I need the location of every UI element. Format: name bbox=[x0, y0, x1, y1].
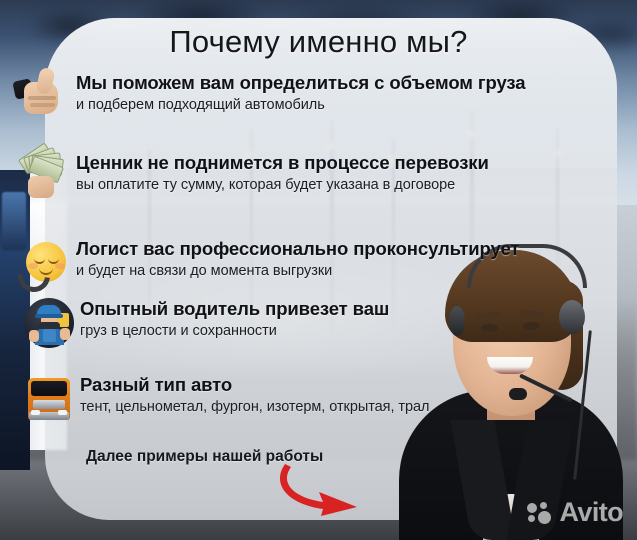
avito-dots-icon bbox=[527, 502, 553, 524]
benefit-subtext: груз в целости и сохранности bbox=[80, 323, 389, 339]
money-in-hand-icon bbox=[14, 146, 68, 200]
page-title: Почему именно мы? bbox=[0, 24, 637, 60]
avito-brand-text: Avito bbox=[560, 499, 624, 526]
benefit-heading: Мы поможем вам определиться с объемом гр… bbox=[76, 72, 525, 94]
relieved-face-phone-icon bbox=[18, 236, 72, 290]
benefit-heading: Логист вас профессионально проконсультир… bbox=[76, 238, 519, 260]
truck-driver-icon bbox=[22, 296, 76, 350]
avito-watermark: Avito bbox=[527, 499, 624, 526]
orange-truck-icon bbox=[22, 372, 76, 426]
benefit-subtext: тент, цельнометал, фургон, изотерм, откр… bbox=[80, 399, 429, 415]
curved-arrow-right-icon bbox=[245, 462, 385, 532]
benefit-heading: Разный тип авто bbox=[80, 374, 429, 396]
benefit-subtext: вы оплатите ту сумму, которая будет указ… bbox=[76, 177, 489, 193]
benefit-heading: Опытный водитель привезет ваш bbox=[80, 298, 389, 320]
benefit-subtext: и будет на связи до момента выгрузки bbox=[76, 263, 519, 279]
content-layer: Почему именно мы? Мы поможем вам определ… bbox=[0, 0, 637, 540]
benefit-heading: Ценник не поднимется в процессе перевозк… bbox=[76, 152, 489, 174]
thumbs-up-icon bbox=[14, 66, 68, 120]
benefit-subtext: и подберем подходящий автомобиль bbox=[76, 97, 525, 113]
promo-banner: Почему именно мы? Мы поможем вам определ… bbox=[0, 0, 637, 540]
